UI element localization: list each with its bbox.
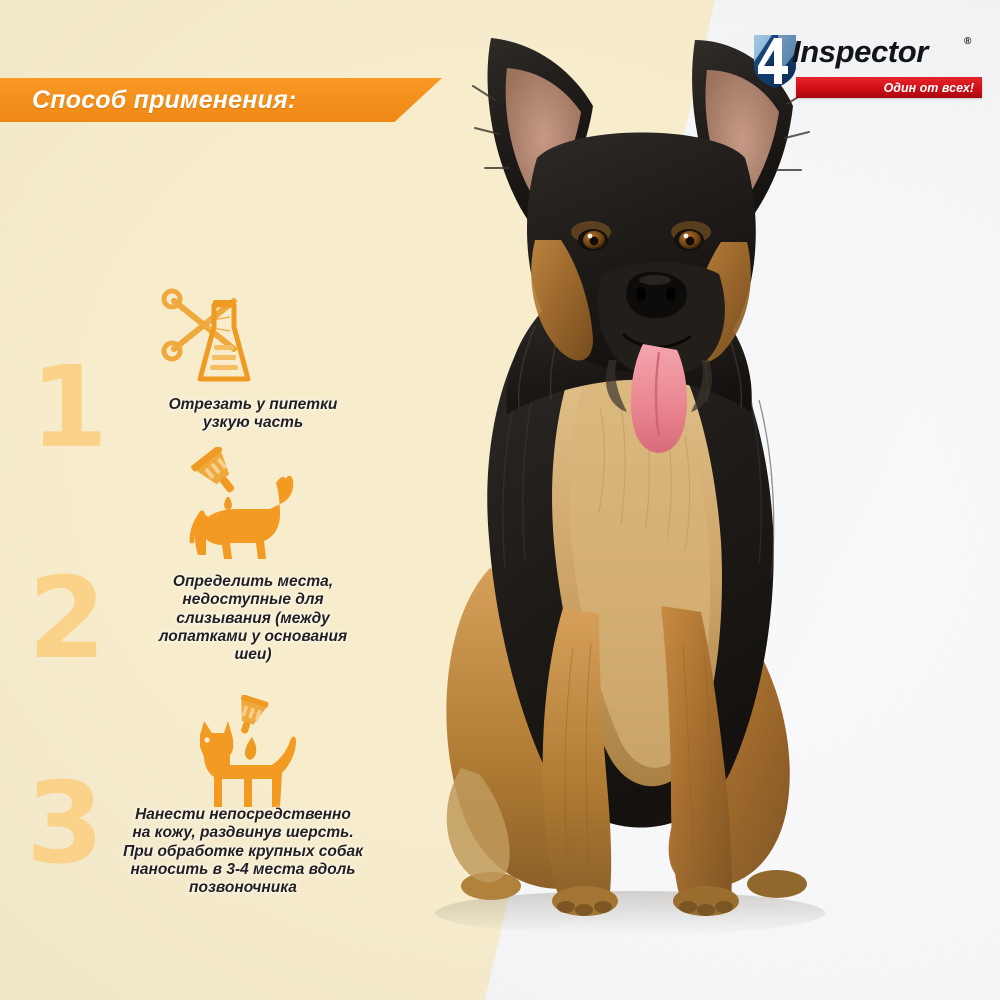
step-2-text: Определить места, недоступные для слизыв… [108, 573, 398, 664]
logo-tagline: Один от всех! [884, 81, 974, 95]
registered-mark: ® [964, 36, 971, 47]
page-title: Способ применения: [32, 86, 296, 115]
step-3-text: Нанести непосредственно на кожу, раздвин… [78, 806, 408, 897]
step-1-number: 1 [30, 352, 108, 464]
logo-tagline-banner: Один от всех! [796, 77, 982, 98]
section-header-banner: Способ применения: [0, 78, 442, 122]
dog-with-pipette-icon [180, 447, 300, 572]
brand-logo: Inspector ® Один от всех! [752, 30, 982, 100]
dog-with-drop-icon [176, 695, 306, 820]
german-shepherd-dog-photo [395, 8, 865, 938]
logo-wordmark: Inspector [792, 34, 928, 70]
scissors-cutting-pipette-icon [160, 287, 270, 392]
step-2-number: 2 [28, 563, 106, 675]
instruction-poster: Способ применения: [0, 0, 1000, 1000]
step-1-text: Отрезать у пипетки узкую часть [128, 396, 378, 433]
